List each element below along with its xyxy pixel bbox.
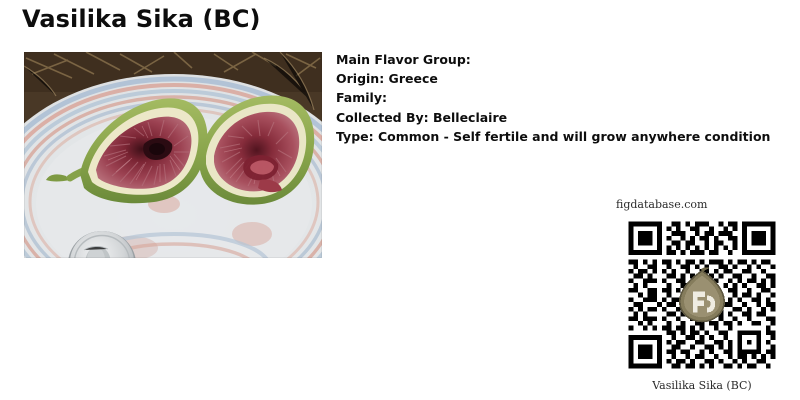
fig-info-block: Main Flavor Group: Origin: Greece Family… [336, 50, 800, 160]
page-title: Vasilika Sika (BC) [22, 5, 261, 33]
info-line-main-flavor-group: Main Flavor Group: [336, 50, 800, 69]
qr-code-icon[interactable] [616, 217, 788, 373]
qr-caption: Vasilika Sika (BC) [612, 379, 792, 392]
info-line-origin: Origin: Greece [336, 69, 800, 88]
info-line-collected-by: Collected By: Belleclaire [336, 108, 800, 127]
info-line-type: Type: Common - Self fertile and will gro… [336, 127, 800, 146]
qr-image-wrap[interactable] [616, 217, 788, 373]
qr-code-block: figdatabase.com [612, 198, 792, 392]
fig-photo-graphic [24, 52, 322, 258]
info-line-family: Family: [336, 88, 800, 107]
qr-brand-label: figdatabase.com [616, 198, 792, 211]
fig-photo [24, 52, 322, 258]
